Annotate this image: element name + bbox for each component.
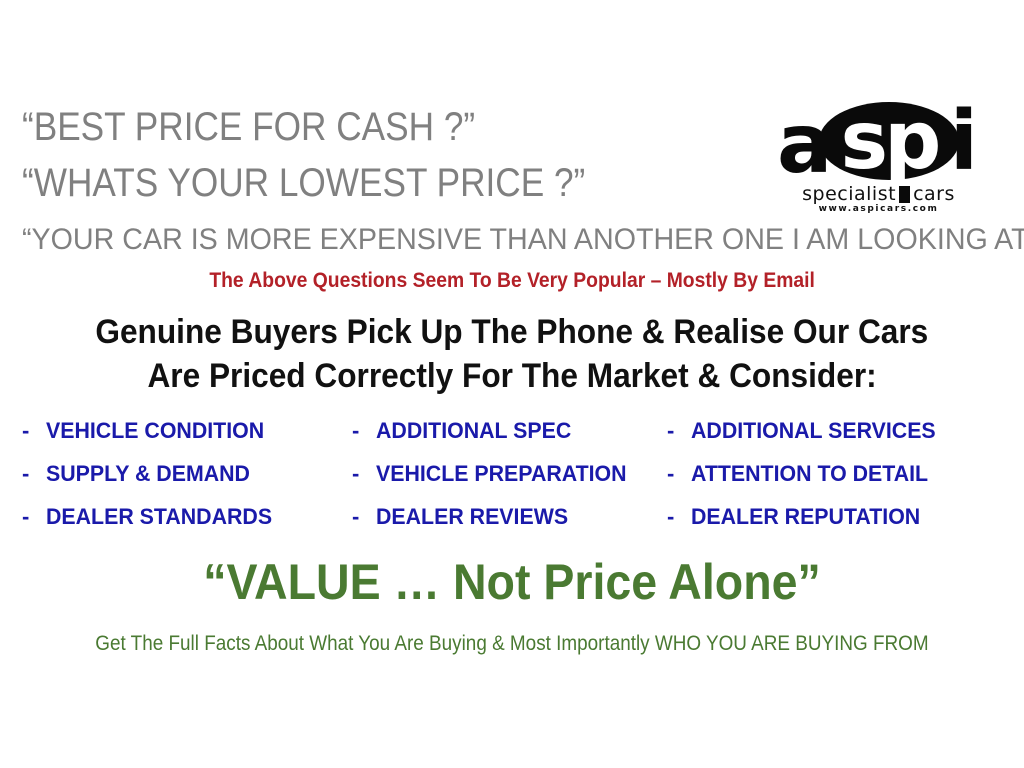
list-item: - DEALER REPUTATION [667,504,1002,530]
list-item: - DEALER STANDARDS [22,504,352,530]
list-item: - VEHICLE PREPARATION [352,461,667,487]
consideration-factors-list: - VEHICLE CONDITION - SUPPLY & DEMAND - … [22,418,1002,530]
bullet-dash-icon: - [352,504,376,530]
factor-label: ADDITIONAL SERVICES [691,418,936,444]
quote-line-2: “WHATS YOUR LOWEST PRICE ?” [22,160,585,206]
factor-label: DEALER REPUTATION [691,504,920,530]
value-subtext: Get The Full Facts About What You Are Bu… [0,630,1024,658]
bullet-dash-icon: - [667,504,691,530]
factor-label: DEALER REVIEWS [376,504,568,530]
factor-label: VEHICLE PREPARATION [376,461,627,487]
factor-label: ADDITIONAL SPEC [376,418,571,444]
logo-website-url: www.aspicars.com [771,204,986,215]
popular-questions-note: The Above Questions Seem To Be Very Popu… [0,268,1024,294]
bullet-dash-icon: - [667,461,691,487]
list-item: - DEALER REVIEWS [352,504,667,530]
bullet-dash-icon: - [22,418,46,444]
factors-column-2: - ADDITIONAL SPEC - VEHICLE PREPARATION … [352,418,667,530]
list-item: - VEHICLE CONDITION [22,418,352,444]
logo-tagline-separator [899,186,910,203]
value-subtext-text: Get The Full Facts About What You Are Bu… [95,630,928,658]
bullet-dash-icon: - [22,504,46,530]
main-headline: Genuine Buyers Pick Up The Phone & Reali… [0,310,1024,398]
list-item: - ADDITIONAL SERVICES [667,418,1002,444]
quote-line-3: “YOUR CAR IS MORE EXPENSIVE THAN ANOTHER… [22,222,1024,258]
bullet-dash-icon: - [667,418,691,444]
value-headline-text: “VALUE … Not Price Alone” [203,552,820,612]
value-headline: “VALUE … Not Price Alone” [0,552,1024,612]
aspi-logo: sp a i specialistcars www.aspicars.com [771,98,986,226]
popular-questions-note-text: The Above Questions Seem To Be Very Popu… [209,268,815,294]
bullet-dash-icon: - [22,461,46,487]
quote-line-1: “BEST PRICE FOR CASH ?” [22,104,475,150]
main-headline-line-1: Genuine Buyers Pick Up The Phone & Reali… [0,310,1024,354]
factor-label: VEHICLE CONDITION [46,418,264,444]
list-item: - SUPPLY & DEMAND [22,461,352,487]
factors-column-3: - ADDITIONAL SERVICES - ATTENTION TO DET… [667,418,1002,530]
bullet-dash-icon: - [352,461,376,487]
logo-letters-sp: sp [819,102,959,180]
factor-label: SUPPLY & DEMAND [46,461,250,487]
main-headline-line-2: Are Priced Correctly For The Market & Co… [0,354,1024,398]
promotional-slide: sp a i specialistcars www.aspicars.com “… [0,0,1024,768]
factor-label: ATTENTION TO DETAIL [691,461,928,487]
main-headline-line-1-text: Genuine Buyers Pick Up The Phone & Reali… [96,310,929,354]
factor-label: DEALER STANDARDS [46,504,272,530]
list-item: - ADDITIONAL SPEC [352,418,667,444]
bullet-dash-icon: - [352,418,376,444]
logo-wordmark: sp a i [771,98,986,186]
main-headline-line-2-text: Are Priced Correctly For The Market & Co… [147,354,876,398]
factors-column-1: - VEHICLE CONDITION - SUPPLY & DEMAND - … [22,418,352,530]
list-item: - ATTENTION TO DETAIL [667,461,1002,487]
